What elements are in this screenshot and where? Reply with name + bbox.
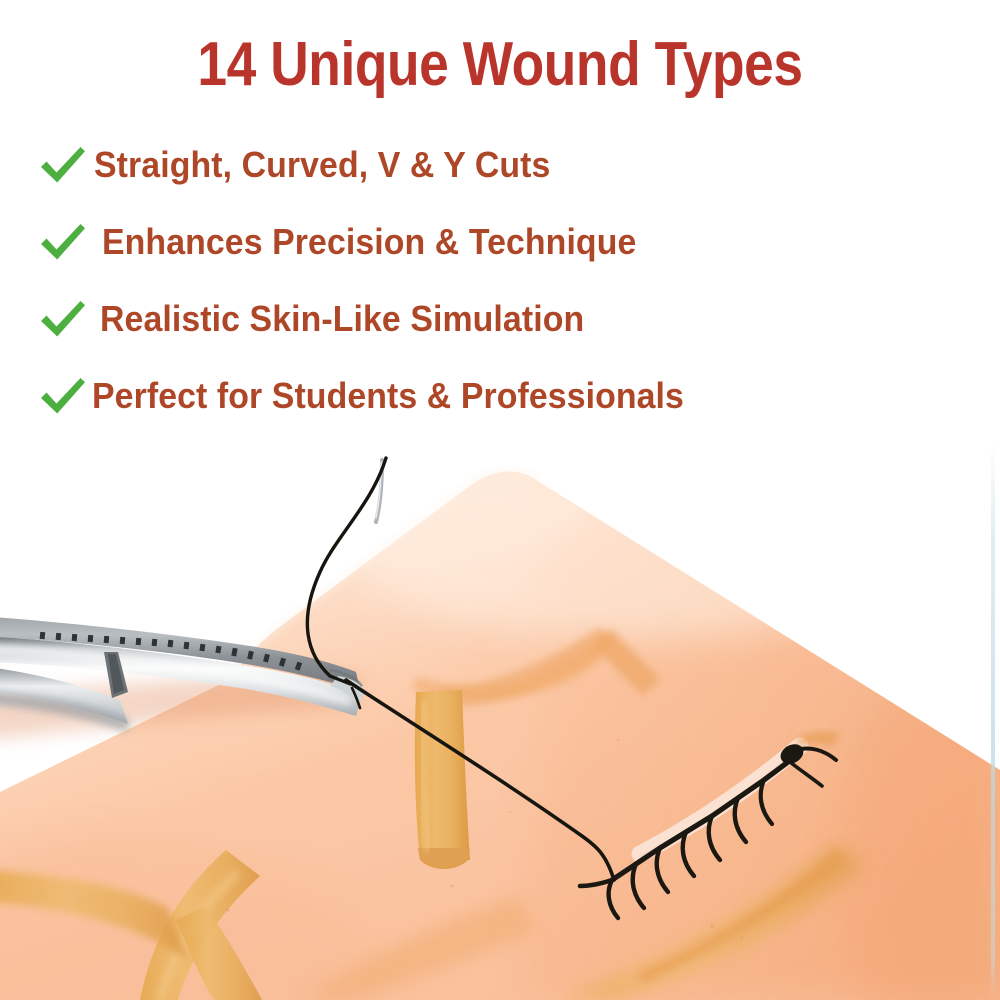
feature-list: Straight, Curved, V & Y Cuts Enhances Pr… — [38, 133, 938, 441]
list-item-label: Straight, Curved, V & Y Cuts — [94, 144, 550, 186]
list-item: Realistic Skin-Like Simulation — [38, 287, 938, 351]
check-icon — [38, 220, 88, 264]
product-photo — [0, 440, 1000, 1000]
list-item-label: Realistic Skin-Like Simulation — [100, 298, 584, 340]
list-item: Straight, Curved, V & Y Cuts — [38, 133, 938, 197]
check-icon — [38, 297, 88, 341]
list-item-label: Enhances Precision & Technique — [102, 221, 636, 263]
suture-pad-illustration — [0, 440, 1000, 1000]
promo-graphic: 14 Unique Wound Types Straight, Curved, … — [0, 0, 1000, 1000]
list-item: Enhances Precision & Technique — [38, 210, 938, 274]
list-item: Perfect for Students & Professionals — [38, 364, 938, 428]
check-icon — [38, 143, 88, 187]
list-item-label: Perfect for Students & Professionals — [92, 375, 684, 417]
check-icon — [38, 374, 88, 418]
page-title: 14 Unique Wound Types — [70, 27, 930, 103]
